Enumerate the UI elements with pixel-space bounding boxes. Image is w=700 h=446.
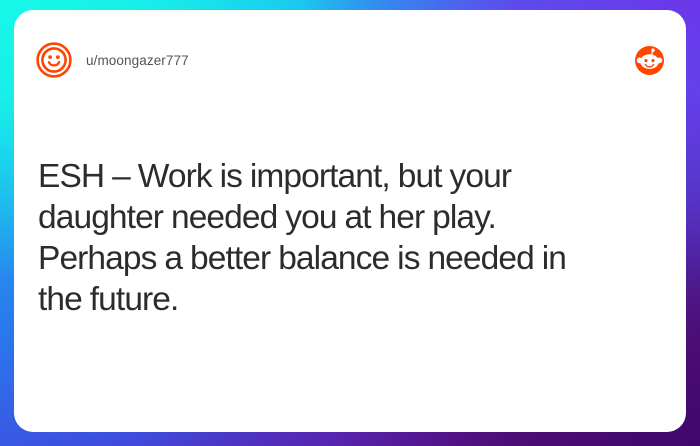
screenshot-stage: u/moongazer777 ESH – Work is important, — [0, 0, 700, 446]
post-text: ESH – Work is important, but your daught… — [38, 156, 598, 320]
avatar[interactable] — [36, 42, 72, 78]
post-header: u/moongazer777 — [36, 40, 664, 80]
post-card: u/moongazer777 ESH – Work is important, — [14, 10, 686, 432]
smiley-face-icon — [36, 42, 72, 78]
username-label[interactable]: u/moongazer777 — [86, 53, 189, 68]
reddit-snoo-icon — [635, 46, 664, 75]
